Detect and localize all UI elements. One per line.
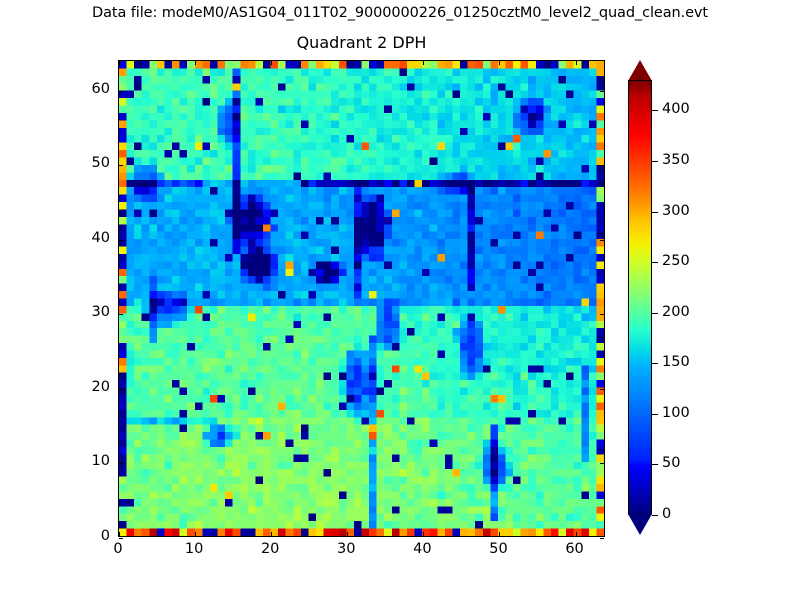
y-axis-tick: [119, 240, 123, 241]
x-axis-tick: [347, 532, 348, 536]
colorbar-tick: [652, 110, 658, 111]
y-axis-tick-label: 60: [58, 81, 110, 97]
x-axis-tick-label: 10: [164, 541, 224, 557]
y-axis-tick: [119, 463, 123, 464]
colorbar-under-arrow: [628, 514, 652, 535]
x-axis-tick: [499, 532, 500, 536]
colorbar-tick-label: 0: [662, 506, 671, 522]
x-axis-tick: [119, 61, 120, 65]
colorbar-tick-label: 150: [662, 354, 690, 370]
x-axis-tick-label: 50: [468, 541, 528, 557]
colorbar-tick: [652, 464, 658, 465]
colorbar-tick-label: 200: [662, 304, 690, 320]
x-axis-tick: [271, 532, 272, 536]
y-axis-tick-label: 50: [58, 155, 110, 171]
x-axis-tick: [576, 532, 577, 536]
colorbar-tick: [652, 515, 658, 516]
y-axis-tick: [600, 538, 604, 539]
y-axis-tick: [600, 91, 604, 92]
y-axis-tick: [119, 389, 123, 390]
x-axis-tick-label: 30: [316, 541, 376, 557]
plot-title: Quadrant 2 DPH: [118, 33, 605, 52]
colorbar-tick: [652, 161, 658, 162]
y-axis-tick-label: 10: [58, 453, 110, 469]
x-axis-tick-label: 60: [545, 541, 605, 557]
colorbar-tick: [652, 414, 658, 415]
colorbar-tick: [652, 313, 658, 314]
x-axis-tick-label: 20: [240, 541, 300, 557]
x-axis-tick: [195, 61, 196, 65]
colorbar-tick-label: 400: [662, 101, 690, 117]
colorbar-body: [628, 80, 652, 515]
y-axis-tick: [600, 165, 604, 166]
colorbar-tick-label: 50: [662, 455, 680, 471]
y-axis-tick-label: 20: [58, 379, 110, 395]
y-axis-tick: [119, 314, 123, 315]
x-axis-tick: [499, 61, 500, 65]
y-axis-tick: [119, 91, 123, 92]
colorbar-tick: [652, 363, 658, 364]
colorbar-gradient: [629, 81, 651, 514]
x-axis-tick: [119, 532, 120, 536]
y-axis-tick: [600, 463, 604, 464]
y-axis-tick: [600, 389, 604, 390]
colorbar: 050100150200250300350400: [620, 55, 800, 547]
heatmap-axes: [118, 60, 605, 537]
colorbar-tick-label: 250: [662, 253, 690, 269]
colorbar-over-arrow: [628, 60, 652, 81]
y-axis-tick: [600, 240, 604, 241]
colorbar-tick-label: 350: [662, 152, 690, 168]
x-axis-tick: [423, 532, 424, 536]
colorbar-tick-label: 100: [662, 405, 690, 421]
x-axis-tick: [347, 61, 348, 65]
colorbar-tick: [652, 262, 658, 263]
matplotlib-figure: Data file: modeM0/AS1G04_011T02_90000002…: [0, 0, 800, 600]
y-axis-tick-label: 0: [58, 528, 110, 544]
data-file-suptitle: Data file: modeM0/AS1G04_011T02_90000002…: [0, 5, 800, 21]
y-axis-tick-label: 30: [58, 304, 110, 320]
y-axis-tick: [119, 538, 123, 539]
y-axis-tick: [119, 165, 123, 166]
x-axis-tick: [195, 532, 196, 536]
x-axis-tick-label: 40: [392, 541, 452, 557]
y-axis-tick-label: 40: [58, 230, 110, 246]
x-axis-tick: [271, 61, 272, 65]
y-axis-tick: [600, 314, 604, 315]
colorbar-tick-label: 300: [662, 203, 690, 219]
x-axis-tick: [576, 61, 577, 65]
colorbar-tick: [652, 212, 658, 213]
heatmap-image: [119, 61, 604, 536]
x-axis-tick: [423, 61, 424, 65]
